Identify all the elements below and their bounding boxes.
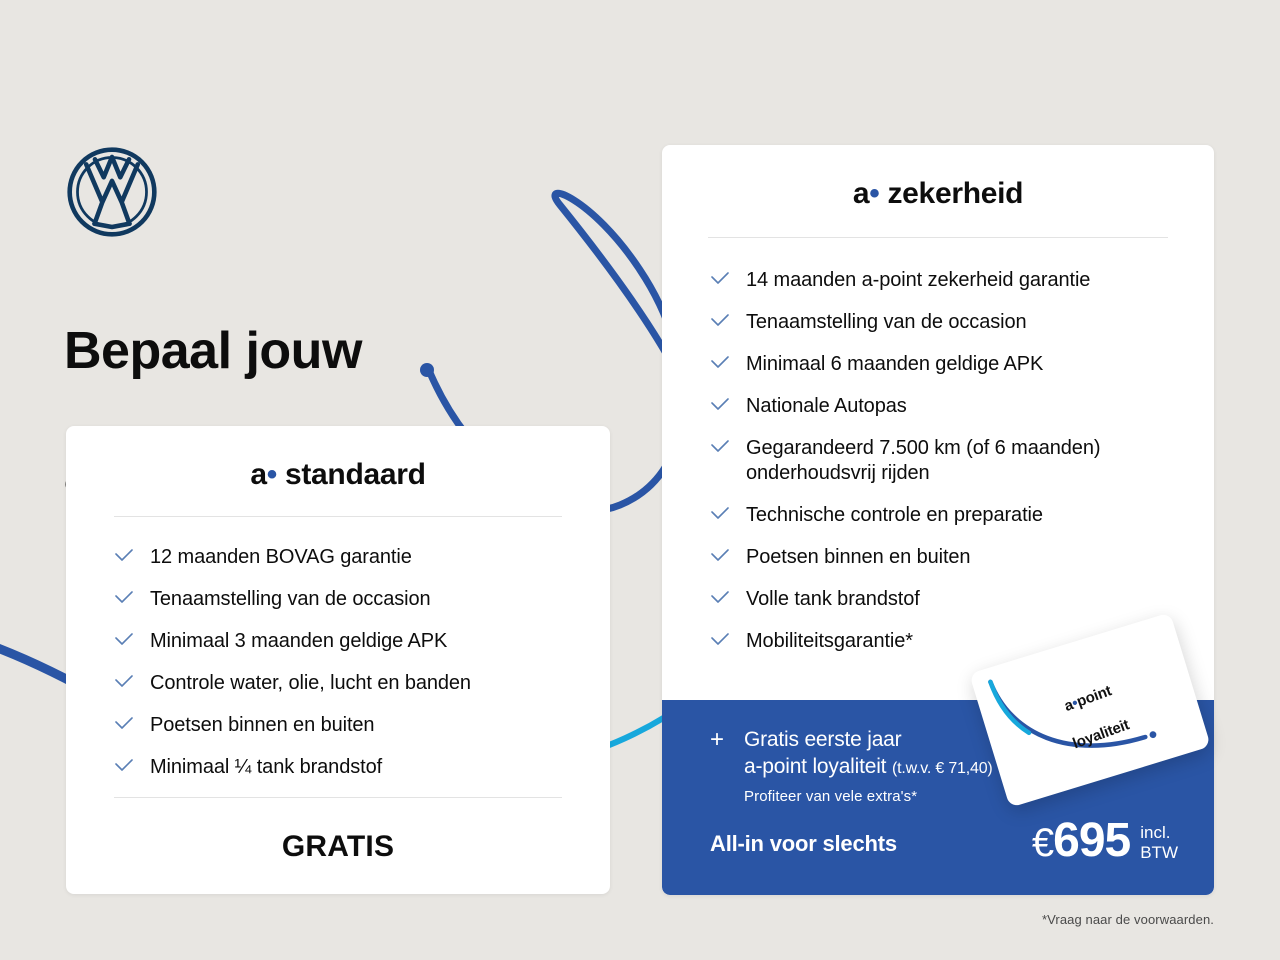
list-item: 14 maanden a-point zekerheid garantie — [710, 268, 1180, 293]
list-item: Minimaal ¼ tank brandstof — [114, 755, 580, 780]
check-icon — [114, 759, 134, 773]
standaard-price-label: GRATIS — [66, 830, 610, 864]
card-zekerheid-title-prefix: a — [853, 177, 869, 210]
list-item: Controle water, olie, lucht en banden — [114, 671, 580, 696]
brand-dot-icon: • — [869, 177, 879, 210]
list-item: Minimaal 6 maanden geldige APK — [710, 352, 1180, 377]
footnote: *Vraag naar de voorwaarden. — [1042, 912, 1214, 927]
list-item-label: Minimaal 6 maanden geldige APK — [746, 353, 1043, 375]
plus-icon: + — [710, 728, 724, 752]
poster-canvas: Bepaal jouw afleverpakket. a• standaard … — [0, 0, 1280, 960]
divider-bottom — [114, 797, 562, 798]
list-item-label: Volle tank brandstof — [746, 588, 920, 610]
list-item-label: Mobiliteitsgarantie* — [746, 630, 913, 652]
check-icon — [710, 549, 730, 563]
page-title-line-1: Bepaal jouw — [64, 320, 404, 382]
divider-top — [708, 237, 1168, 238]
list-item-label: Technische controle en preparatie — [746, 504, 1043, 526]
list-item: Tenaamstelling van de occasion — [114, 587, 580, 612]
list-item: Poetsen binnen en buiten — [114, 713, 580, 738]
check-icon — [710, 440, 730, 454]
loyalty-card-line-1: a•point — [1057, 680, 1119, 718]
loop-start-dot — [420, 363, 434, 377]
zekerheid-feature-list: 14 maanden a-point zekerheid garantie Te… — [662, 268, 1214, 654]
check-icon — [710, 398, 730, 412]
list-item-label: Nationale Autopas — [746, 395, 907, 417]
card-standaard-title-prefix: a — [250, 458, 266, 491]
card-zekerheid-title-text: zekerheid — [887, 177, 1023, 210]
check-icon — [710, 272, 730, 286]
list-item-label: Tenaamstelling van de occasion — [150, 588, 431, 610]
list-item-label: Minimaal ¼ tank brandstof — [150, 756, 382, 778]
card-zekerheid[interactable]: a• zekerheid 14 maanden a-point zekerhei… — [662, 145, 1214, 895]
brand-dot-icon: • — [267, 458, 277, 491]
vat-note: incl. BTW — [1140, 823, 1178, 863]
check-icon — [114, 717, 134, 731]
check-icon — [710, 356, 730, 370]
loyalty-card-line-2: loyaliteit — [1070, 715, 1132, 753]
check-icon — [710, 633, 730, 647]
list-item-label: Gegarandeerd 7.500 km (of 6 maanden) ond… — [746, 437, 1100, 484]
list-item-label: 12 maanden BOVAG garantie — [150, 546, 412, 568]
offer-value: (t.w.v. € 71,40) — [892, 760, 993, 777]
list-item: Minimaal 3 maanden geldige APK — [114, 629, 580, 654]
currency-symbol: € — [1032, 821, 1053, 865]
price-label: All-in voor slechts — [710, 831, 897, 857]
check-icon — [114, 675, 134, 689]
list-item-label: 14 maanden a-point zekerheid garantie — [746, 269, 1090, 291]
volkswagen-logo — [66, 146, 158, 238]
offer-line-2-text: a-point loyaliteit — [744, 755, 886, 778]
check-icon — [710, 314, 730, 328]
price-value: 695 — [1053, 814, 1130, 867]
card-standaard-title-text: standaard — [285, 458, 426, 491]
card-zekerheid-title: a• zekerheid — [662, 145, 1214, 211]
card-standaard[interactable]: a• standaard 12 maanden BOVAG garantie T… — [66, 426, 610, 894]
list-item-label: Controle water, olie, lucht en banden — [150, 672, 471, 694]
list-item: 12 maanden BOVAG garantie — [114, 545, 580, 570]
price-amount: €695 — [1032, 817, 1130, 867]
check-icon — [114, 549, 134, 563]
list-item: Technische controle en preparatie — [710, 503, 1180, 528]
list-item-label: Poetsen binnen en buiten — [746, 546, 970, 568]
check-icon — [114, 633, 134, 647]
check-icon — [710, 507, 730, 521]
list-item-label: Minimaal 3 maanden geldige APK — [150, 630, 447, 652]
check-icon — [710, 591, 730, 605]
check-icon — [114, 591, 134, 605]
price-amount-group: €695 incl. BTW — [1032, 817, 1178, 867]
list-item: Gegarandeerd 7.500 km (of 6 maanden) ond… — [710, 436, 1180, 486]
list-item-label: Poetsen binnen en buiten — [150, 714, 374, 736]
list-item: Poetsen binnen en buiten — [710, 545, 1180, 570]
loyalty-line1-text: point — [1074, 682, 1113, 710]
list-item-label: Tenaamstelling van de occasion — [746, 311, 1027, 333]
standaard-feature-list: 12 maanden BOVAG garantie Tenaamstelling… — [66, 545, 610, 780]
list-item: Tenaamstelling van de occasion — [710, 310, 1180, 335]
offer-line-3: Profiteer van vele extra's* — [744, 785, 1194, 809]
card-standaard-title: a• standaard — [66, 426, 610, 492]
list-item: Volle tank brandstof — [710, 587, 1180, 612]
divider-top — [114, 516, 562, 517]
list-item: Nationale Autopas — [710, 394, 1180, 419]
